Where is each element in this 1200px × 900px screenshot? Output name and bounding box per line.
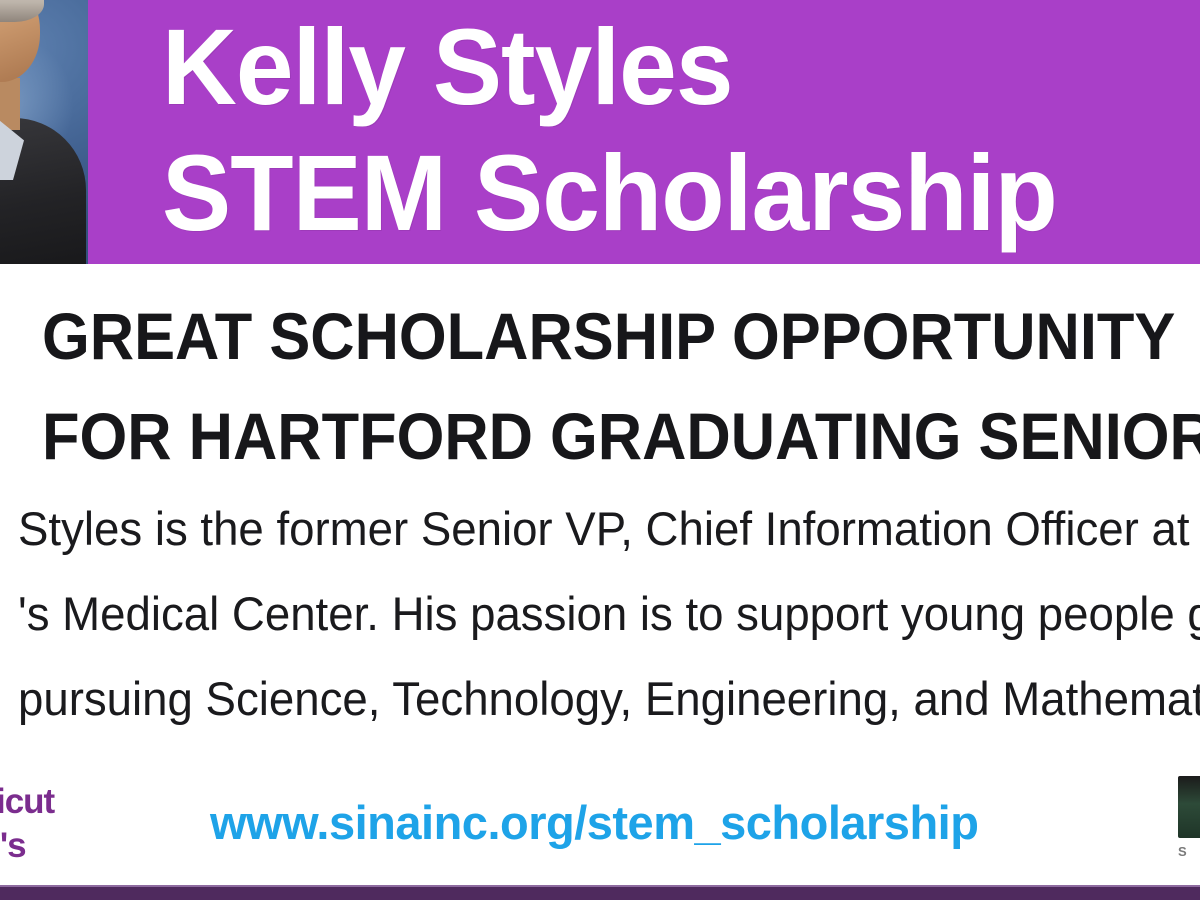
sponsor-logo-line-1: necticut (0, 780, 138, 824)
scholarship-flyer: Kelly Styles STEM Scholarship GREAT SCHO… (0, 0, 1200, 900)
footer-row: necticut dren's www.sinainc.org/stem_sch… (0, 764, 1200, 885)
portrait-photo (0, 0, 88, 264)
title-line-1: Kelly Styles (162, 4, 1160, 130)
title-line-2: STEM Scholarship (162, 130, 1160, 256)
footer-accent-bar (0, 885, 1200, 900)
partner-logo: S (1178, 776, 1200, 868)
description-line-3: pursuing Science, Technology, Engineerin… (18, 656, 1182, 741)
scholarship-url-link[interactable]: www.sinainc.org/stem_scholarship (210, 792, 1090, 854)
partner-logo-mark-icon (1178, 776, 1200, 838)
description-paragraph: Styles is the former Senior VP, Chief In… (0, 486, 1200, 741)
connecticut-childrens-logo: necticut dren's (0, 780, 138, 876)
body-area: GREAT SCHOLARSHIP OPPORTUNITY FOR HARTFO… (0, 264, 1200, 885)
description-line-2: 's Medical Center. His passion is to sup… (18, 571, 1182, 656)
title-block: Kelly Styles STEM Scholarship (162, 4, 1200, 256)
headline-line-1: GREAT SCHOLARSHIP OPPORTUNITY (42, 286, 1158, 386)
partner-logo-label: S (1178, 844, 1187, 859)
header-band: Kelly Styles STEM Scholarship (0, 0, 1200, 264)
sponsor-logo-line-2: dren's (0, 824, 138, 868)
neck (0, 78, 20, 130)
headline-line-2: FOR HARTFORD GRADUATING SENIORS (42, 386, 1158, 486)
description-line-1: Styles is the former Senior VP, Chief In… (18, 486, 1182, 571)
headline-block: GREAT SCHOLARSHIP OPPORTUNITY FOR HARTFO… (0, 286, 1200, 486)
